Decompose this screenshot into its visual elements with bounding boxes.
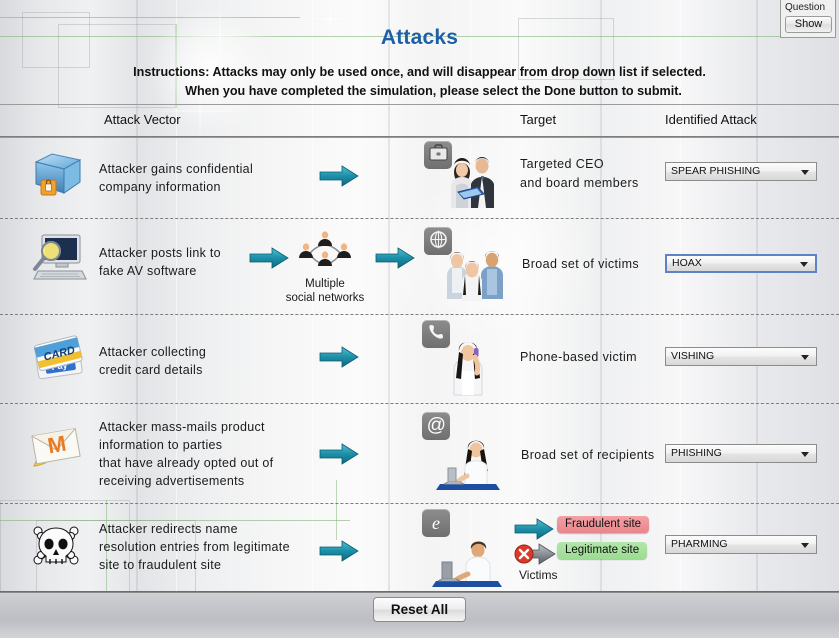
header-rule-top [0,104,839,105]
social-network-label-line-1: Multiple [275,277,375,291]
instructions-text: Instructions: Attacks may only be used o… [0,63,839,101]
vector-line-3: that have already opted out of [99,454,273,472]
social-network-label: Multiple social networks [275,277,375,305]
flow-arrow-fraudulent-icon [513,518,553,540]
attack-vector-text: Attacker posts link to fake AV software [99,244,221,280]
question-panel: Question Show [780,0,836,38]
internet-explorer-e-icon: e [422,509,450,537]
credit-card-icon: Pay CARD [30,330,88,387]
vector-line-1: Attacker redirects name [99,520,290,538]
table-row: M Attacker mass-mails product informatio… [0,404,839,503]
flow-arrow-icon [318,442,358,464]
chevron-down-icon [800,262,808,267]
target-line-1: Phone-based victim [520,348,637,367]
flow-arrow-icon [318,345,358,367]
man-at-laptop-illustration [428,540,506,595]
column-header-identified-attack: Identified Attack [665,112,757,127]
locked-folder-icon [30,148,88,209]
dropdown-value: HOAX [672,256,702,271]
flow-arrow-icon [318,164,358,186]
vector-line-4: receiving advertisements [99,472,273,490]
target-line-1: Broad set of recipients [521,446,655,465]
badge-legitimate-site: Legitimate site [557,542,647,559]
vector-line-1: Attacker posts link to [99,244,221,262]
vector-line-1: Attacker gains confidential [99,160,253,178]
vector-line-1: Attacker collecting [99,343,206,361]
vector-line-2: information to parties [99,436,273,454]
dropdown-value: VISHING [671,348,714,365]
computer-magnifier-icon [30,233,88,290]
badge-fraudulent-site: Fraudulent site [557,516,649,533]
vector-line-2: resolution entries from legitimate [99,538,290,556]
target-text: Broad set of victims [522,255,639,274]
attack-vector-text: Attacker collecting credit card details [99,343,206,379]
dropdown-value: SPEAR PHISHING [671,163,760,180]
vector-line-2: credit card details [99,361,206,379]
flow-arrow-icon [318,539,358,561]
vector-line-2: company information [99,178,253,196]
target-text: Broad set of recipients [521,446,655,465]
dropdown-value: PHARMING [671,536,728,553]
instructions-line-1: Instructions: Attacks may only be used o… [133,65,706,79]
two-business-people-illustration [444,152,504,215]
identified-attack-dropdown[interactable]: VISHING [665,347,817,366]
identified-attack-dropdown[interactable]: PHARMING [665,535,817,554]
social-network-icon [292,227,358,282]
blocked-arrow-legitimate-icon [513,542,553,564]
table-row: Attacker gains confidential company info… [0,138,839,218]
footer-rule [0,591,839,593]
table-row: Attacker redirects name resolution entri… [0,504,839,590]
attack-vector-text: Attacker redirects name resolution entri… [99,520,290,574]
table-row: Pay CARD Attacker collecting credit card… [0,315,839,403]
vector-line-3: site to fraudulent site [99,556,290,574]
vector-line-2: fake AV software [99,262,221,280]
identified-attack-dropdown[interactable]: HOAX [665,254,817,273]
identified-attack-dropdown[interactable]: SPEAR PHISHING [665,162,817,181]
chevron-down-icon [801,543,809,548]
column-header-target: Target [520,112,556,127]
target-text: Phone-based victim [520,348,637,367]
bg-green-line [0,17,300,18]
chevron-down-icon [801,355,809,360]
target-line-2: and board members [520,174,639,193]
woman-on-phone-illustration [444,335,500,402]
attack-vector-text: Attacker gains confidential company info… [99,160,253,196]
victims-label: Victims [519,568,557,582]
question-label: Question [785,2,832,14]
target-line-1: Broad set of victims [522,255,639,274]
social-network-label-line-2: social networks [275,291,375,305]
attack-vector-text: Attacker mass-mails product information … [99,418,273,490]
skull-crossbones-icon [26,514,88,581]
identified-attack-dropdown[interactable]: PHISHING [665,444,817,463]
flow-arrow-icon [374,246,414,268]
show-question-button[interactable]: Show [785,16,832,33]
chevron-down-icon [801,170,809,175]
chevron-down-icon [801,452,809,457]
dropdown-value: PHISHING [671,445,722,462]
reset-all-button[interactable]: Reset All [373,597,466,622]
woman-at-laptop-illustration [432,436,504,499]
instructions-line-2: When you have completed the simulation, … [0,82,839,101]
vector-line-1: Attacker mass-mails product [99,418,273,436]
page-title: Attacks [0,26,839,50]
mail-envelope-icon: M [26,418,88,485]
target-line-1: Targeted CEO [520,155,639,174]
three-people-illustration [443,241,507,308]
flow-arrow-icon [248,246,288,268]
target-text: Targeted CEO and board members [520,155,639,193]
table-row: Attacker posts link to fake AV software [0,219,839,314]
column-header-attack-vector: Attack Vector [104,112,181,127]
